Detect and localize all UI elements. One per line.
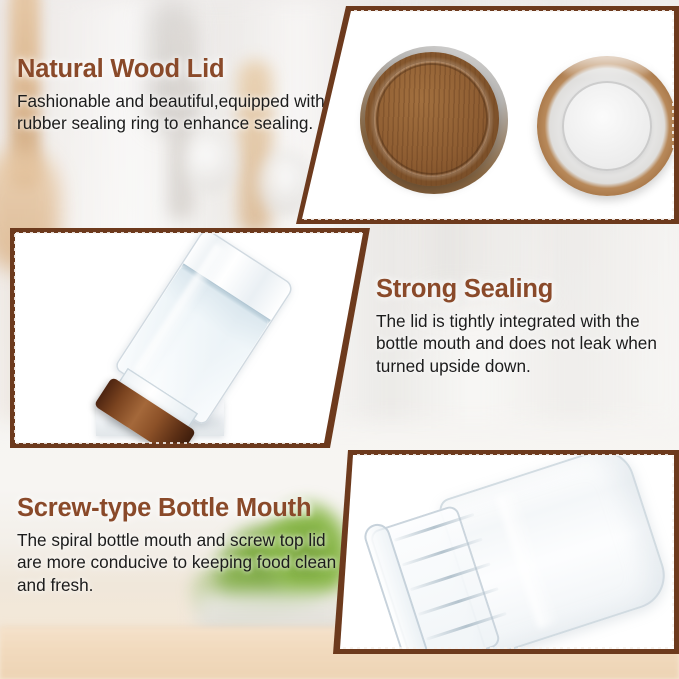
feature-body: The lid is tightly integrated with the b… <box>376 310 676 377</box>
jar-thread <box>410 562 491 591</box>
panel-stitch-bottom <box>304 218 672 220</box>
jar-thread <box>418 587 499 616</box>
lid-highlight <box>558 52 654 80</box>
panel-stitch-right <box>672 12 674 218</box>
panel-stitch-bottom <box>343 647 671 649</box>
feature-heading: Strong Sealing <box>376 275 676 304</box>
panel-stitch-top <box>354 10 672 12</box>
photo-panel-screw-mouth-jar <box>333 450 679 679</box>
jar-thread <box>402 538 483 567</box>
panel-stitch-bottom <box>16 442 322 444</box>
panel-stitch-top <box>357 454 671 456</box>
feature-body: The spiral bottle mouth and screw top li… <box>17 529 337 596</box>
jar-thread <box>394 513 475 542</box>
photo-tilted-bottle <box>10 228 382 448</box>
panel-stitch-right <box>672 456 674 646</box>
feature-heading: Natural Wood Lid <box>17 55 329 84</box>
photo-panel-tilted-bottle <box>10 228 382 448</box>
feature-block-strong-sealing: Strong Sealing The lid is tightly integr… <box>376 275 676 377</box>
feature-body: Fashionable and beautiful,equipped with … <box>17 90 329 135</box>
glass-jar-icon <box>347 450 679 679</box>
product-infographic: Natural Wood Lid Fashionable and beautif… <box>0 0 679 679</box>
panel-inner <box>10 228 382 448</box>
feature-heading: Screw-type Bottle Mouth <box>17 494 337 523</box>
jar-thread <box>426 612 507 641</box>
panel-inner <box>333 450 679 679</box>
wood-lid-top-view-icon <box>365 52 499 186</box>
photo-panel-wood-lids <box>290 6 679 224</box>
feature-block-screw-type-bottle-mouth: Screw-type Bottle Mouth The spiral bottl… <box>17 494 337 596</box>
panel-stitch-left <box>14 234 16 440</box>
panel-stitch-top <box>16 232 362 234</box>
photo-wood-lids <box>290 6 679 224</box>
panel-inner <box>290 6 679 224</box>
feature-block-natural-wood-lid: Natural Wood Lid Fashionable and beautif… <box>17 55 329 135</box>
photo-screw-mouth-jar <box>333 450 679 679</box>
spoon-bowl-icon <box>185 130 237 192</box>
